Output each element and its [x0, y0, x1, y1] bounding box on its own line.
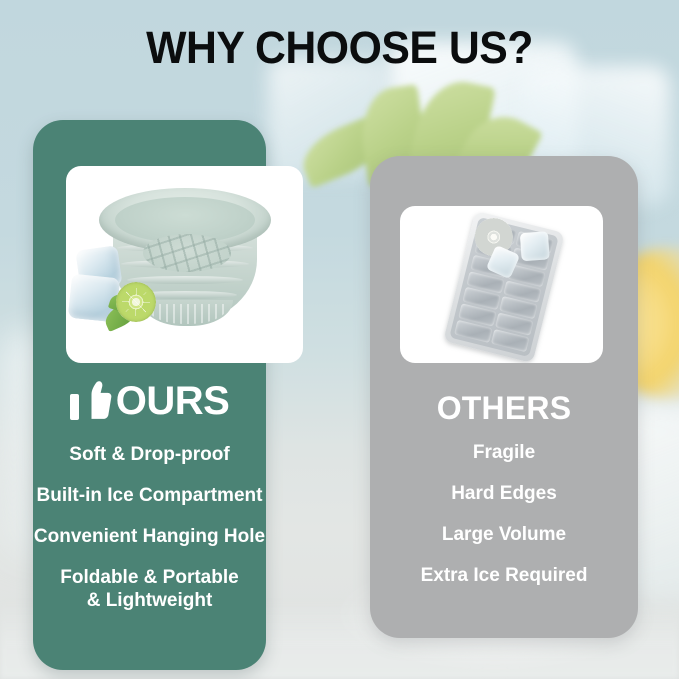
ours-feature-3: Convenient Hanging Hole	[33, 526, 266, 548]
bucket-pleat	[127, 276, 243, 284]
infographic-canvas: WHY CHOOSE US? OURS Soft &	[0, 0, 679, 679]
page-title: WHY CHOOSE US?	[17, 22, 662, 74]
ice-cube	[520, 231, 550, 261]
others-feature-4: Extra Ice Required	[370, 565, 638, 587]
ours-feature-1: Soft & Drop-proof	[33, 444, 266, 466]
ours-feature-4-line-a: Foldable & Portable	[33, 566, 266, 589]
others-feature-1: Fragile	[370, 442, 638, 464]
lime-slice	[116, 282, 156, 322]
others-feature-3: Large Volume	[370, 524, 638, 546]
others-heading: OTHERS	[370, 388, 638, 428]
ours-feature-4: Foldable & Portable & Lightweight	[33, 566, 266, 612]
ours-heading-label: OURS	[116, 379, 230, 424]
ours-heading: OURS	[33, 378, 266, 424]
ice-cube-tray-image	[443, 211, 565, 363]
others-heading-label: OTHERS	[437, 390, 572, 427]
thumbs-up-icon	[70, 381, 112, 421]
ours-feature-2: Built-in Ice Compartment	[33, 485, 266, 507]
ours-feature-4-line-b: & Lightweight	[33, 589, 266, 612]
bucket-ice-compartment-grid	[143, 234, 231, 272]
ours-product-photo	[66, 166, 303, 363]
others-feature-2: Hard Edges	[370, 483, 638, 505]
others-product-photo	[400, 206, 603, 363]
